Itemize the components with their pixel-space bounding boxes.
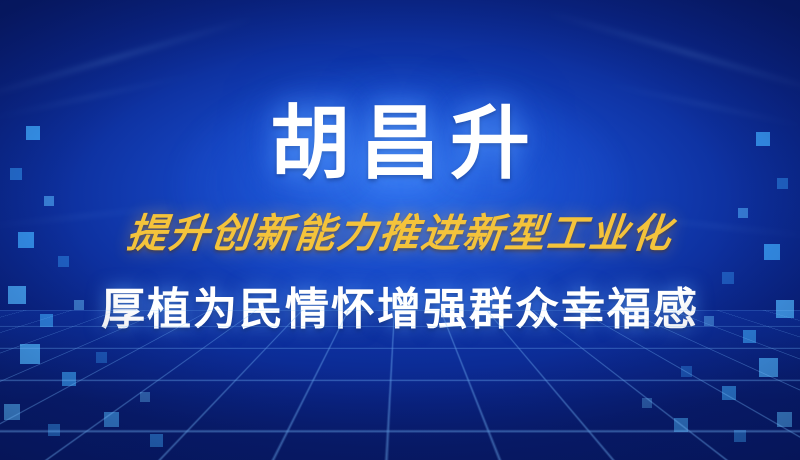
subtitle-white: 厚植为民情怀增强群众幸福感 (101, 288, 699, 332)
subtitle-gold: 提升创新能力推进新型工业化 (125, 214, 675, 254)
person-name-title: 胡昌升 (260, 104, 540, 184)
banner-image: 胡昌升 提升创新能力推进新型工业化 厚植为民情怀增强群众幸福感 (0, 0, 800, 460)
banner-text-block: 胡昌升 提升创新能力推进新型工业化 厚植为民情怀增强群众幸福感 (0, 0, 800, 460)
